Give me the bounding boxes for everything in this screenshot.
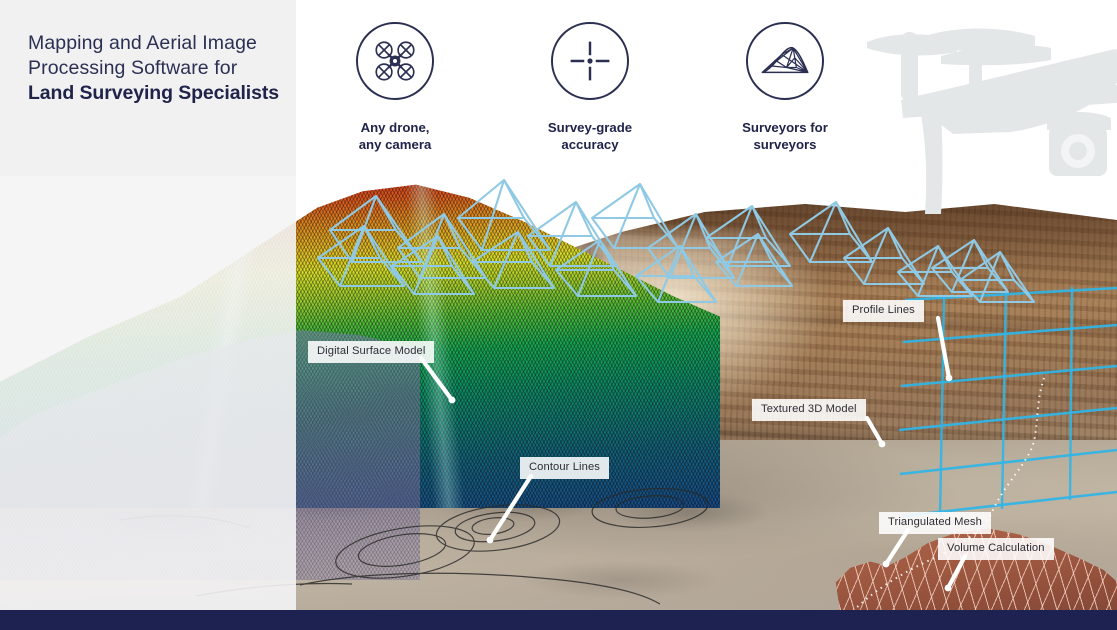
feature-caption-line-2: surveyors — [710, 137, 860, 154]
drone-icon — [356, 22, 434, 100]
headline-line-2: Processing Software for — [28, 56, 286, 81]
feature-caption-line-1: Any drone, — [320, 120, 470, 137]
feature-caption-line-1: Surveyors for — [710, 120, 860, 137]
page-title: Mapping and Aerial Image Processing Soft… — [28, 31, 286, 106]
feature-survey-grade-accuracy[interactable]: Survey-grade accuracy — [515, 22, 665, 153]
feature-caption-line-1: Survey-grade — [515, 120, 665, 137]
callout-contour-lines[interactable]: Contour Lines — [520, 457, 609, 479]
feature-any-drone[interactable]: Any drone, any camera — [320, 22, 470, 153]
headline-line-3: Land Surveying Specialists — [28, 81, 286, 106]
crosshair-icon — [551, 22, 629, 100]
callout-digital-surface-model[interactable]: Digital Surface Model — [308, 341, 434, 363]
callout-profile-lines[interactable]: Profile Lines — [843, 300, 924, 322]
footer-bar — [0, 610, 1117, 630]
feature-list: Any drone, any camera Survey-grade accur… — [320, 22, 860, 172]
callout-volume-calculation[interactable]: Volume Calculation — [938, 538, 1054, 560]
mesh-hill-icon — [746, 22, 824, 100]
promo-graphic: Mapping and Aerial Image Processing Soft… — [0, 0, 1117, 630]
callout-textured-3d-model[interactable]: Textured 3D Model — [752, 399, 866, 421]
feature-caption-line-2: accuracy — [515, 137, 665, 154]
callout-triangulated-mesh[interactable]: Triangulated Mesh — [879, 512, 991, 534]
feature-caption-line-2: any camera — [320, 137, 470, 154]
feature-surveyors-for-surveyors[interactable]: Surveyors for surveyors — [710, 22, 860, 153]
headline-line-1: Mapping and Aerial Image — [28, 31, 286, 56]
